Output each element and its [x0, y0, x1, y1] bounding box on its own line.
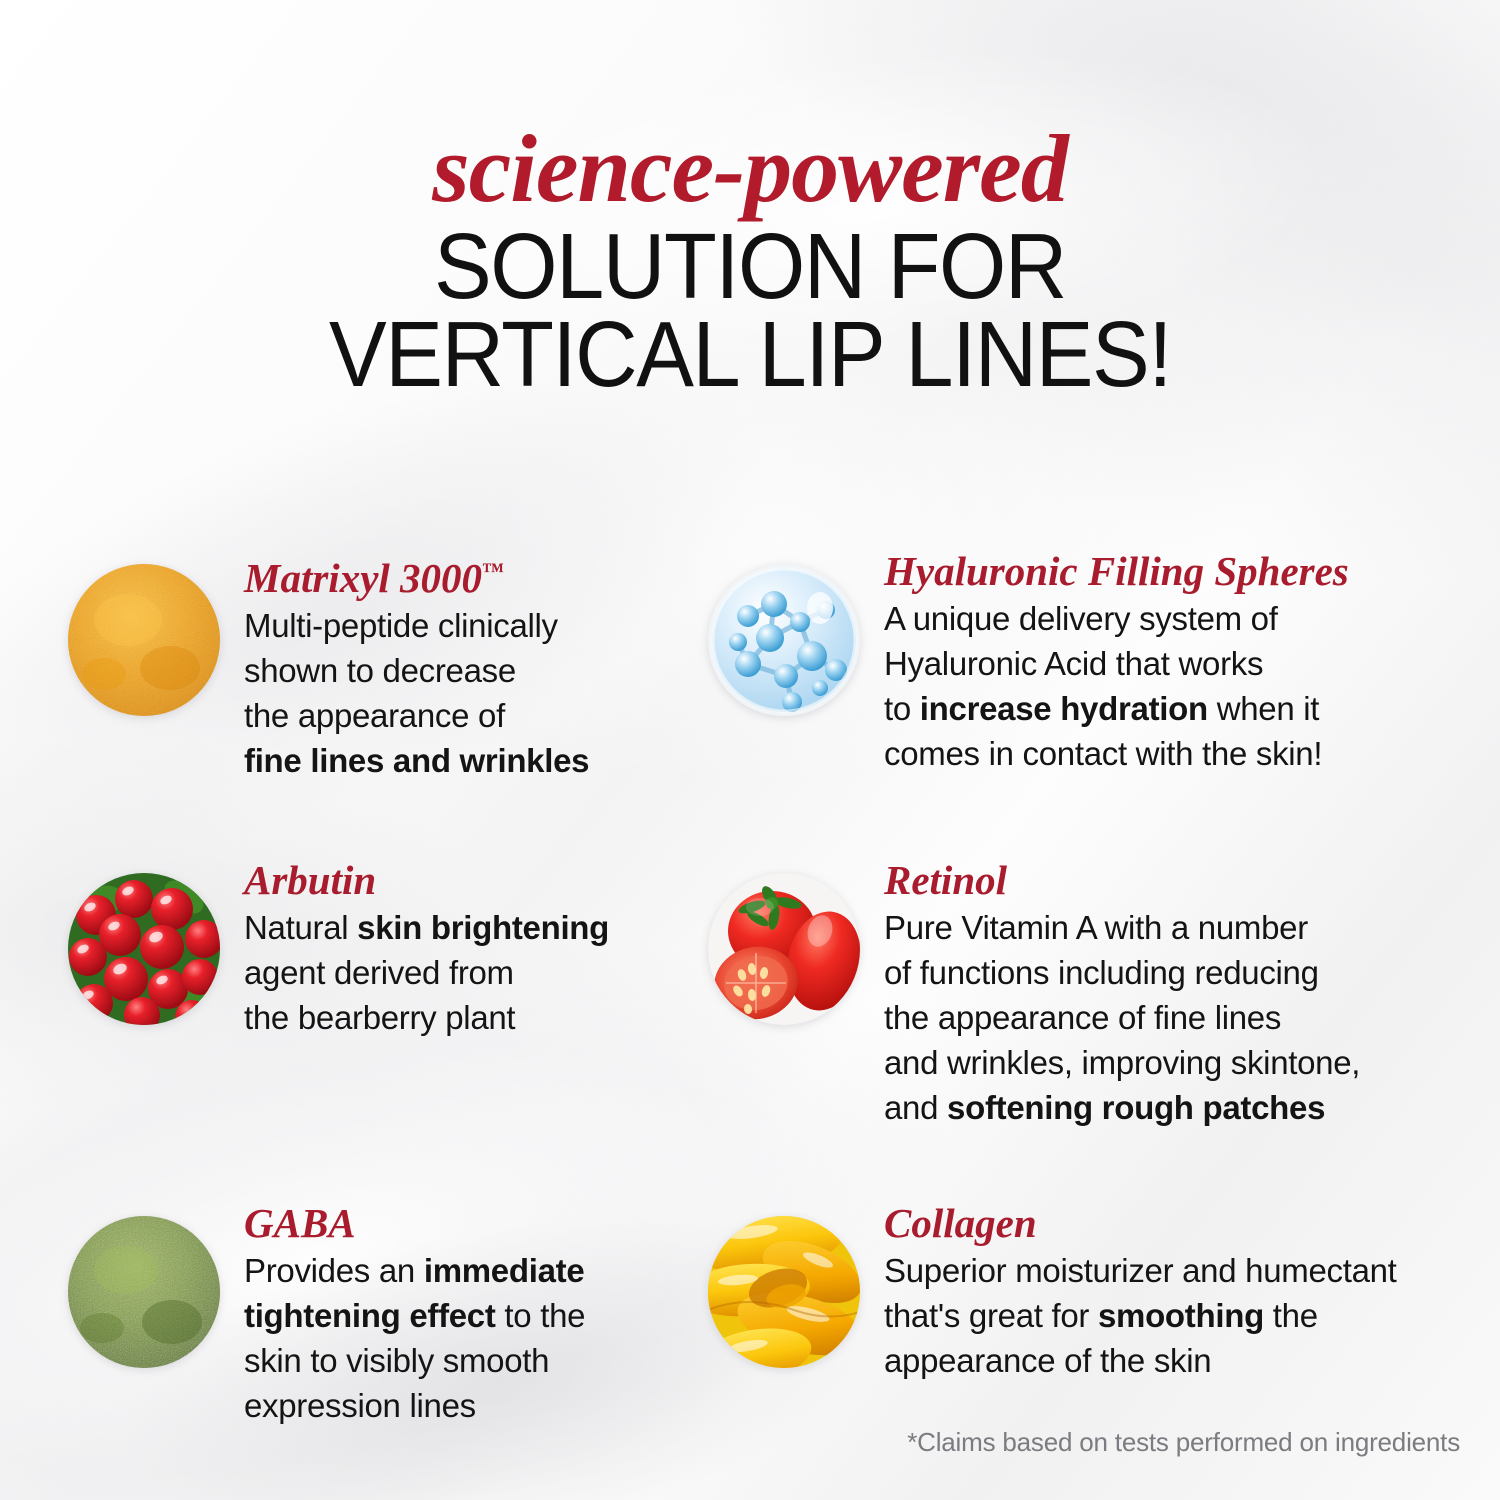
- trademark-symbol: ™: [482, 558, 504, 583]
- ingredient-text: Collagen Superior moisturizer and humect…: [860, 1200, 1500, 1383]
- body-text: appearance of the skin: [884, 1342, 1211, 1379]
- grid-cell: Retinol Pure Vitamin A with a numberof f…: [700, 857, 1500, 1130]
- description-line: Provides an immediate: [244, 1248, 700, 1293]
- body-text: of functions including reducing: [884, 954, 1319, 991]
- ingredient-infographic: science-powered SOLUTION FOR VERTICAL LI…: [0, 0, 1500, 1500]
- ingredient-image-wrap: [68, 564, 220, 716]
- grid-row: Matrixyl 3000™ Multi-peptide clinicallys…: [0, 548, 1500, 783]
- ingredient-image-wrap: [68, 873, 220, 1025]
- description-line: A unique delivery system of: [884, 596, 1500, 641]
- body-text: Natural: [244, 909, 357, 946]
- tomatoes-photo: [708, 873, 860, 1025]
- description-line: and softening rough patches: [884, 1085, 1500, 1130]
- grid-cell: Matrixyl 3000™ Multi-peptide clinicallys…: [0, 548, 700, 783]
- turmeric-powder-photo: [68, 564, 220, 716]
- description-line: skin to visibly smooth: [244, 1338, 700, 1383]
- body-text: Superior moisturizer and humectant: [884, 1252, 1397, 1289]
- body-text: skin to visibly smooth: [244, 1342, 549, 1379]
- molecule-sphere-photo: [708, 564, 860, 716]
- headline-script-line: science-powered: [0, 120, 1500, 218]
- body-text: expression lines: [244, 1387, 476, 1424]
- emphasis-text: immediate: [424, 1252, 585, 1289]
- body-text: the appearance of fine lines: [884, 999, 1281, 1036]
- description-line: and wrinkles, improving skintone,: [884, 1040, 1500, 1085]
- body-text: Hyaluronic Acid that works: [884, 645, 1263, 682]
- grid-cell: GABA Provides an immediatetightening eff…: [0, 1200, 700, 1428]
- body-text: and wrinkles, improving skintone,: [884, 1044, 1360, 1081]
- body-text: Pure Vitamin A with a number: [884, 909, 1308, 946]
- description-line: the appearance of fine lines: [884, 995, 1500, 1040]
- green-powder-photo: [68, 1216, 220, 1368]
- emphasis-text: softening rough patches: [947, 1089, 1325, 1126]
- ingredient-description: Provides an immediatetightening effect t…: [244, 1248, 700, 1428]
- page-title: science-powered SOLUTION FOR VERTICAL LI…: [0, 120, 1500, 400]
- ingredient-matrixyl-3000: Matrixyl 3000™ Multi-peptide clinicallys…: [68, 548, 700, 783]
- ingredient-description: Natural skin brighteningagent derived fr…: [244, 905, 700, 1040]
- ingredient-gaba: GABA Provides an immediatetightening eff…: [68, 1200, 700, 1428]
- ingredient-text: Arbutin Natural skin brighteningagent de…: [220, 857, 700, 1040]
- body-text: the bearberry plant: [244, 999, 515, 1036]
- body-text: Multi-peptide clinically: [244, 607, 558, 644]
- description-line: Pure Vitamin A with a number: [884, 905, 1500, 950]
- body-text: agent derived from: [244, 954, 514, 991]
- body-text: shown to decrease: [244, 652, 516, 689]
- description-line: tightening effect to the: [244, 1293, 700, 1338]
- ingredient-title: Retinol: [884, 857, 1500, 903]
- ingredient-arbutin: Arbutin Natural skin brighteningagent de…: [68, 857, 700, 1040]
- description-line: Natural skin brightening: [244, 905, 700, 950]
- ingredient-text: Hyaluronic Filling Spheres A unique deli…: [860, 548, 1500, 776]
- ingredient-title: Hyaluronic Filling Spheres: [884, 548, 1500, 594]
- body-text: to: [884, 690, 920, 727]
- body-text: to the: [496, 1297, 586, 1334]
- ingredient-description: A unique delivery system ofHyaluronic Ac…: [884, 596, 1500, 776]
- description-line: appearance of the skin: [884, 1338, 1500, 1383]
- body-text: and: [884, 1089, 947, 1126]
- ingredient-image-wrap: [708, 564, 860, 716]
- ingredient-title: GABA: [244, 1200, 700, 1246]
- ingredient-image-wrap: [708, 1216, 860, 1368]
- ingredient-description: Multi-peptide clinicallyshown to decreas…: [244, 603, 700, 783]
- ingredient-title: Matrixyl 3000™: [244, 548, 700, 601]
- ingredient-text: Matrixyl 3000™ Multi-peptide clinicallys…: [220, 548, 700, 783]
- ingredient-title: Collagen: [884, 1200, 1500, 1246]
- description-line: agent derived from: [244, 950, 700, 995]
- description-line: expression lines: [244, 1383, 700, 1428]
- ingredient-hyaluronic-filling-spheres: Hyaluronic Filling Spheres A unique deli…: [708, 548, 1500, 776]
- body-text: A unique delivery system of: [884, 600, 1278, 637]
- description-line: fine lines and wrinkles: [244, 738, 700, 783]
- body-text: when it: [1208, 690, 1319, 727]
- description-line: shown to decrease: [244, 648, 700, 693]
- red-berries-photo: [68, 873, 220, 1025]
- description-line: Multi-peptide clinically: [244, 603, 700, 648]
- grid-cell: Hyaluronic Filling Spheres A unique deli…: [700, 548, 1500, 783]
- ingredient-description: Pure Vitamin A with a numberof functions…: [884, 905, 1500, 1130]
- body-text: the appearance of: [244, 697, 505, 734]
- description-line: the bearberry plant: [244, 995, 700, 1040]
- description-line: that's great for smoothing the: [884, 1293, 1500, 1338]
- grid-row: GABA Provides an immediatetightening eff…: [0, 1200, 1500, 1428]
- grid-row: Arbutin Natural skin brighteningagent de…: [0, 857, 1500, 1130]
- emphasis-text: increase hydration: [920, 690, 1208, 727]
- footnote-disclaimer: *Claims based on tests performed on ingr…: [907, 1427, 1460, 1458]
- description-line: comes in contact with the skin!: [884, 731, 1500, 776]
- headline-line-2: SOLUTION FOR: [53, 220, 1448, 312]
- body-text: that's great for: [884, 1297, 1098, 1334]
- body-text: the: [1264, 1297, 1318, 1334]
- description-line: the appearance of: [244, 693, 700, 738]
- description-line: of functions including reducing: [884, 950, 1500, 995]
- ingredient-image-wrap: [708, 873, 860, 1025]
- emphasis-text: fine lines and wrinkles: [244, 742, 589, 779]
- ingredient-text: Retinol Pure Vitamin A with a numberof f…: [860, 857, 1500, 1130]
- ingredient-collagen: Collagen Superior moisturizer and humect…: [708, 1200, 1500, 1383]
- body-text: comes in contact with the skin!: [884, 735, 1322, 772]
- description-line: Hyaluronic Acid that works: [884, 641, 1500, 686]
- description-line: to increase hydration when it: [884, 686, 1500, 731]
- ingredient-text: GABA Provides an immediatetightening eff…: [220, 1200, 700, 1428]
- ingredient-grid: Matrixyl 3000™ Multi-peptide clinicallys…: [0, 548, 1500, 1428]
- body-text: Provides an: [244, 1252, 424, 1289]
- description-line: Superior moisturizer and humectant: [884, 1248, 1500, 1293]
- emphasis-text: tightening effect: [244, 1297, 496, 1334]
- headline-line-3: VERTICAL LIP LINES!: [53, 308, 1448, 400]
- ingredient-title: Arbutin: [244, 857, 700, 903]
- ingredient-description: Superior moisturizer and humectantthat's…: [884, 1248, 1500, 1383]
- gold-capsules-photo: [708, 1216, 860, 1368]
- emphasis-text: smoothing: [1098, 1297, 1264, 1334]
- ingredient-image-wrap: [68, 1216, 220, 1368]
- ingredient-retinol: Retinol Pure Vitamin A with a numberof f…: [708, 857, 1500, 1130]
- grid-cell: Arbutin Natural skin brighteningagent de…: [0, 857, 700, 1130]
- grid-cell: Collagen Superior moisturizer and humect…: [700, 1200, 1500, 1428]
- emphasis-text: skin brightening: [357, 909, 609, 946]
